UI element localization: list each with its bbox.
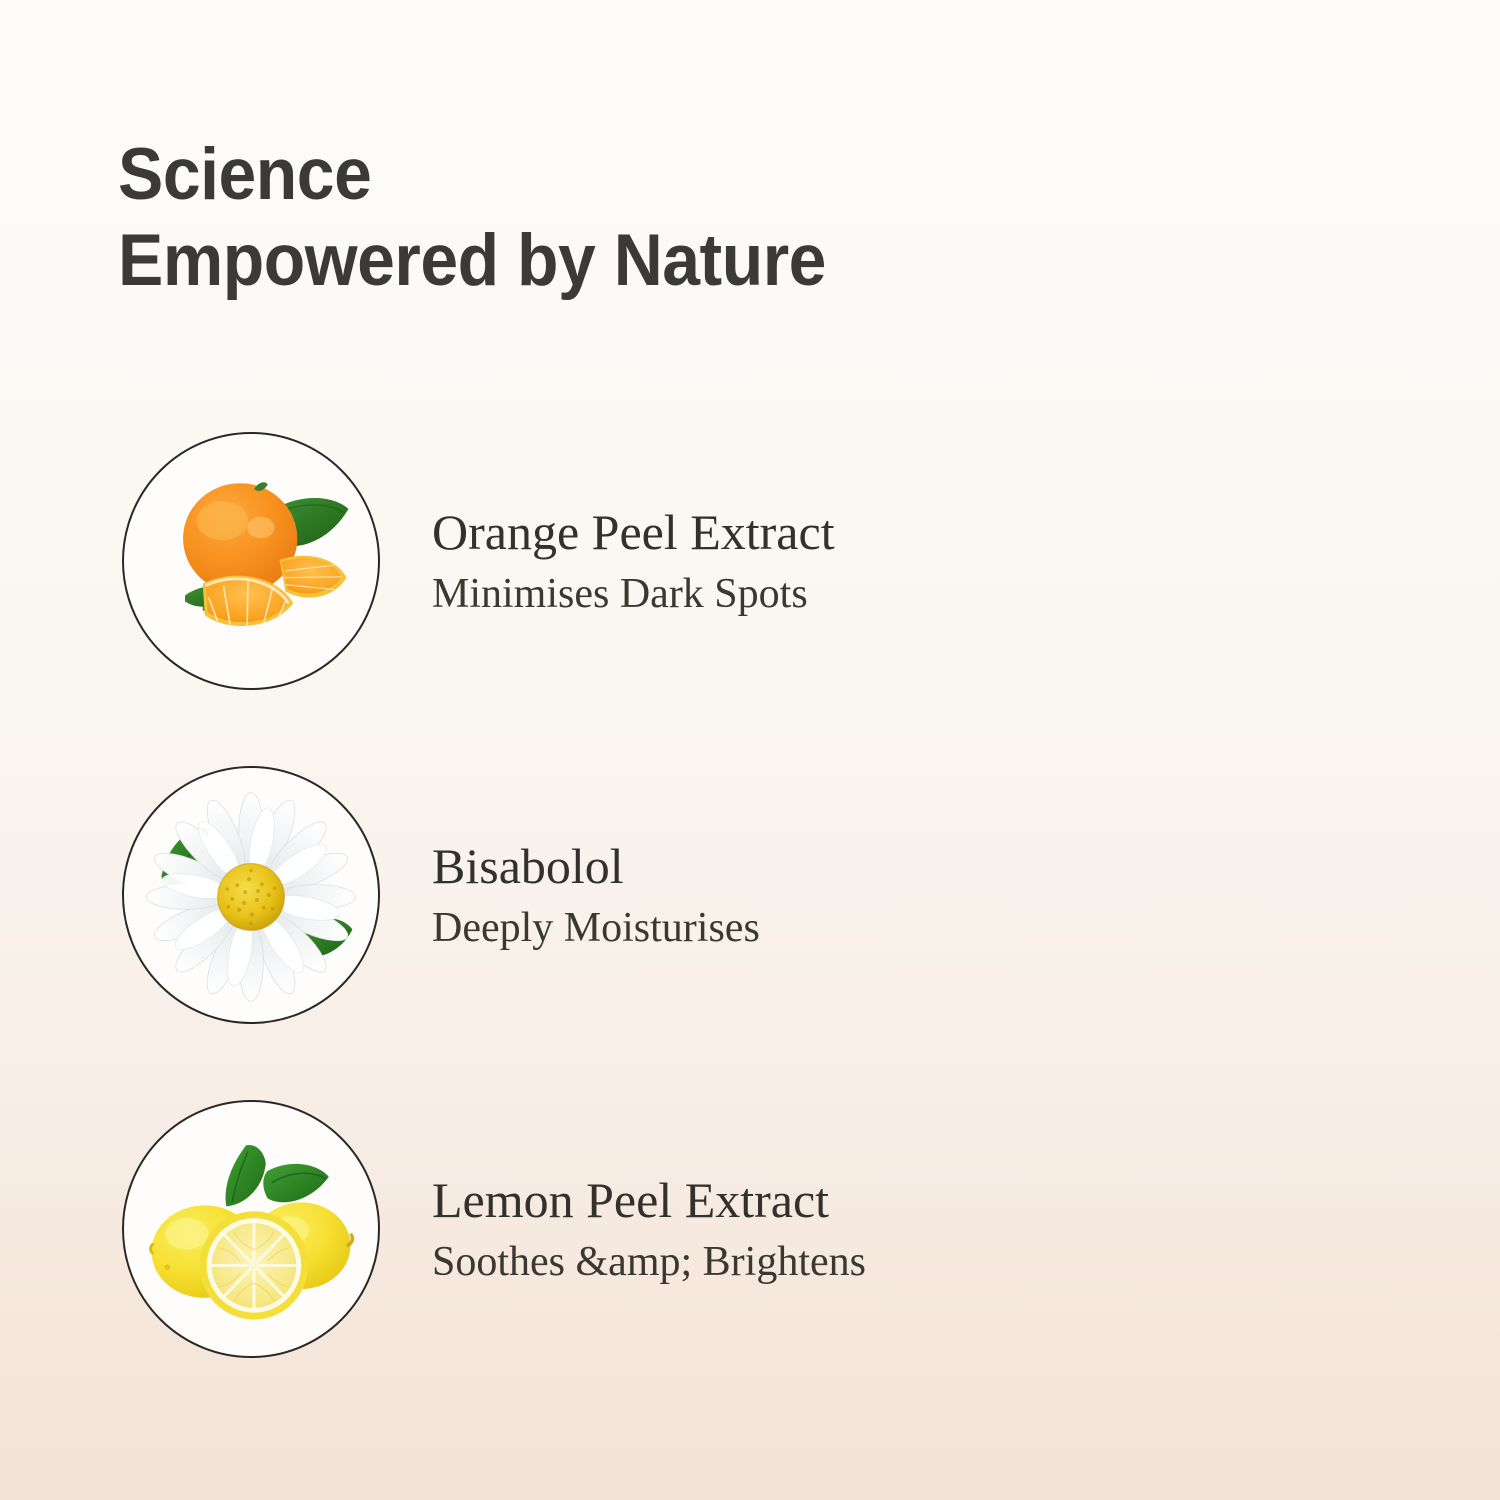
page-title-line-1: Science (118, 132, 1234, 218)
chamomile-flower-icon (122, 766, 380, 1024)
ingredient-text: Bisabolol Deeply Moisturises (432, 766, 760, 1024)
ingredient-benefits-poster: Science Empowered by Nature (0, 0, 1500, 1500)
ingredient-list: Orange Peel Extract Minimises Dark Spots (0, 432, 1500, 1434)
ingredient-text: Orange Peel Extract Minimises Dark Spots (432, 432, 835, 690)
lemon-fruit-icon (122, 1100, 380, 1358)
list-item: Lemon Peel Extract Soothes &amp; Brighte… (0, 1100, 1500, 1358)
page-title: Science Empowered by Nature (118, 132, 1234, 304)
ingredient-subtitle: Minimises Dark Spots (432, 568, 835, 620)
orange-fruit-icon (122, 432, 380, 690)
ingredient-title: Bisabolol (432, 836, 760, 896)
ingredient-title: Orange Peel Extract (432, 502, 835, 562)
list-item: Orange Peel Extract Minimises Dark Spots (0, 432, 1500, 690)
page-title-line-2: Empowered by Nature (118, 218, 1234, 304)
ingredient-title: Lemon Peel Extract (432, 1170, 866, 1230)
list-item: Bisabolol Deeply Moisturises (0, 766, 1500, 1024)
ingredient-text: Lemon Peel Extract Soothes &amp; Brighte… (432, 1100, 866, 1358)
ingredient-subtitle: Deeply Moisturises (432, 902, 760, 954)
ingredient-subtitle: Soothes &amp; Brightens (432, 1236, 866, 1288)
